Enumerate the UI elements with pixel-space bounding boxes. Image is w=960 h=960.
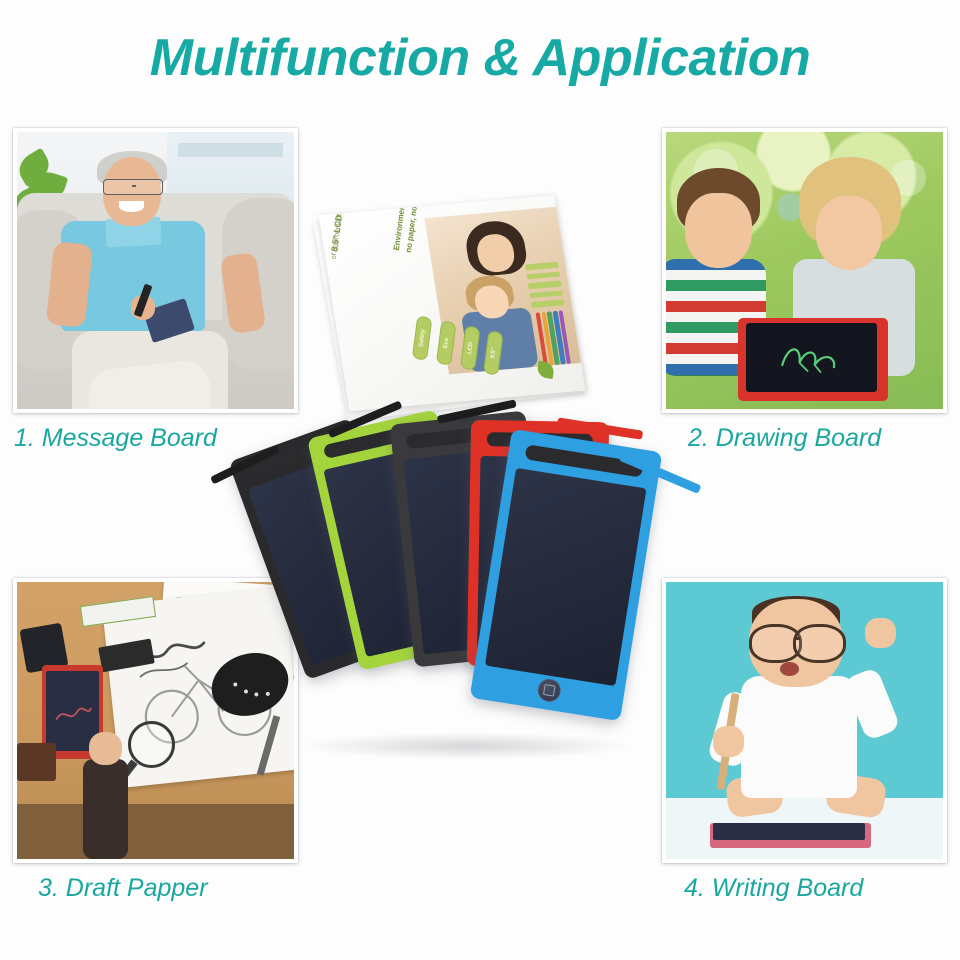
magnifying-glass xyxy=(128,721,176,769)
baby-eyeglasses-right-lens xyxy=(793,624,846,663)
photo-draft-papper-scene xyxy=(17,582,294,859)
leather-wallet xyxy=(17,743,56,782)
photo-card-drawing-board xyxy=(662,128,947,413)
package-badge: Safety xyxy=(412,315,433,361)
boy-face xyxy=(685,193,751,268)
package-badge: Eco xyxy=(436,320,457,366)
photo-message-board-scene xyxy=(17,132,294,409)
package-badge: 8.5" xyxy=(483,330,504,376)
photo-writing-board-scene xyxy=(666,582,943,859)
baby-hand-holding-stylus xyxy=(713,726,743,756)
fan-ground-shadow xyxy=(302,733,632,759)
tablet-screen xyxy=(713,823,865,840)
caption-writing-board: 4. Writing Board xyxy=(684,874,863,903)
photo-card-draft-papper xyxy=(13,578,298,863)
package-tagline: Environment-friendly no paper, no chalk xyxy=(391,195,425,253)
window-blind xyxy=(178,143,283,157)
green-scribble-drawing xyxy=(777,337,843,376)
erase-home-button[interactable] xyxy=(536,677,562,703)
caption-drawing-board: 2. Drawing Board xyxy=(688,424,881,453)
package-tagline-line2: no paper, no chalk xyxy=(403,195,425,253)
baby-hand-raised xyxy=(865,618,895,648)
tablet-fan-group xyxy=(262,415,702,755)
person-arm xyxy=(83,759,127,859)
page-title: Multifunction & Application xyxy=(0,30,960,87)
package-badge: LCD xyxy=(460,325,481,371)
package-front-sheet: 8.5" LCD Writing Tablet of environmental… xyxy=(319,195,586,411)
man-eyeglasses xyxy=(103,179,163,195)
desk-edge xyxy=(17,804,294,859)
infographic-page: Multifunction & Application xyxy=(0,0,960,960)
photo-card-writing-board xyxy=(662,578,947,863)
package-feature-badges: Safety Eco LCD 8.5" xyxy=(399,323,503,390)
photo-drawing-board-scene xyxy=(666,132,943,409)
caption-draft-papper: 3. Draft Papper xyxy=(38,874,208,903)
eyeglasses-bridge xyxy=(795,637,801,640)
product-package-box: 8.5" LCD Writing Tablet of environmental… xyxy=(320,196,590,426)
person-hand xyxy=(89,732,122,765)
baby-white-onesie xyxy=(741,676,857,798)
girl-face xyxy=(816,196,882,271)
baby-mouth xyxy=(780,662,799,676)
caption-message-board: 1. Message Board xyxy=(14,424,217,453)
photo-card-message-board xyxy=(13,128,298,413)
